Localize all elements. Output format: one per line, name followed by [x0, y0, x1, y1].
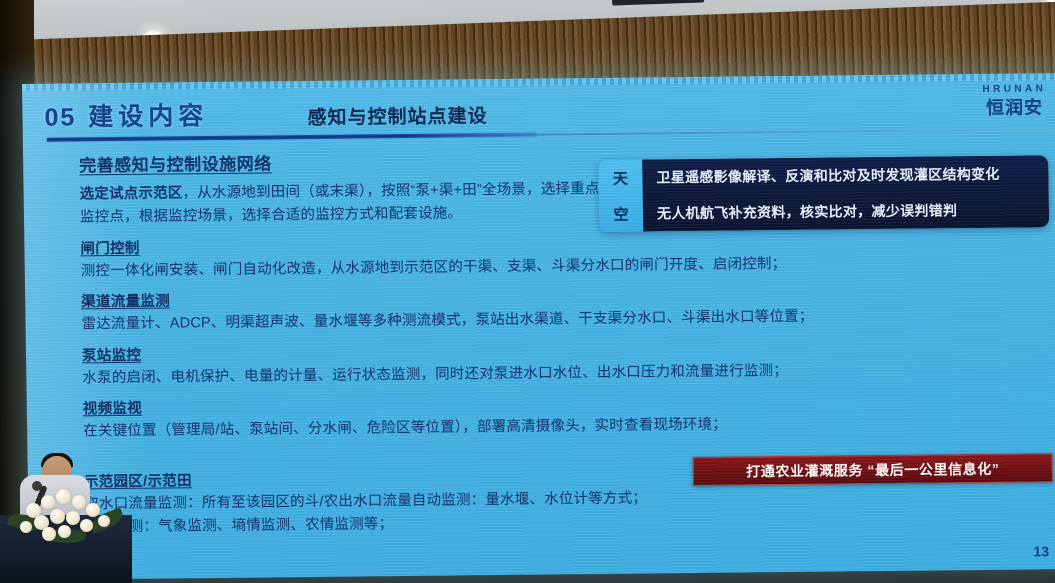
flower	[42, 527, 56, 541]
flower	[86, 503, 100, 517]
infobox-label-column: 天 空	[598, 160, 643, 232]
flower	[20, 521, 32, 533]
infobox-text-drone: 无人机航飞补充资料，核实比对，减少误判错判	[657, 191, 1050, 231]
flower	[72, 495, 86, 509]
flower	[80, 519, 93, 532]
infobox-label-sky: 天	[598, 160, 643, 196]
flower	[50, 509, 65, 524]
section-title: 建设内容	[88, 96, 209, 133]
section-underline	[47, 133, 537, 142]
lead-paragraph-bold: 选定试点示范区	[80, 185, 183, 202]
section-underline-extension	[537, 128, 1055, 136]
slide-section-header: 05 建设内容	[44, 96, 208, 134]
flower	[66, 511, 80, 525]
lead-paragraph: 选定试点示范区，从水源地到田间（或末渠），按照“泵+渠+田”全场景，选择重点监控…	[79, 178, 600, 230]
flower	[41, 495, 55, 509]
infobox-content-column: 卫星遥感影像解译、反演和比对及时发现灌区结构变化 无人机航飞补充资料，核实比对，…	[642, 155, 1049, 231]
projected-slide: 05 建设内容 感知与控制站点建设 HRUNAN 恒润安 完善感知与控制设施网络…	[22, 73, 1055, 580]
flower	[58, 525, 71, 538]
infobox-text-satellite: 卫星遥感影像解译、反演和比对及时发现灌区结构变化	[656, 155, 1049, 195]
flower	[56, 489, 71, 504]
infobox-label-air: 空	[599, 196, 644, 232]
logo-text-en: HRUNAN	[982, 84, 1046, 95]
sky-air-infobox: 天 空 卫星遥感影像解译、反演和比对及时发现灌区结构变化 无人机航飞补充资料，核…	[598, 155, 1049, 232]
speaker-at-podium	[0, 453, 132, 583]
flower	[98, 515, 110, 527]
red-highlight-banner: 打通农业灌溉服务 “最后一公里信息化”	[693, 453, 1053, 486]
logo-text-cn: 恒润安	[983, 98, 1047, 117]
section-number: 05	[44, 103, 76, 132]
slide-page-number: 13	[1033, 543, 1049, 559]
company-logo: HRUNAN 恒润安	[982, 84, 1046, 117]
page-title: 感知与控制站点建设	[307, 101, 487, 130]
flower-arrangement	[6, 489, 126, 547]
